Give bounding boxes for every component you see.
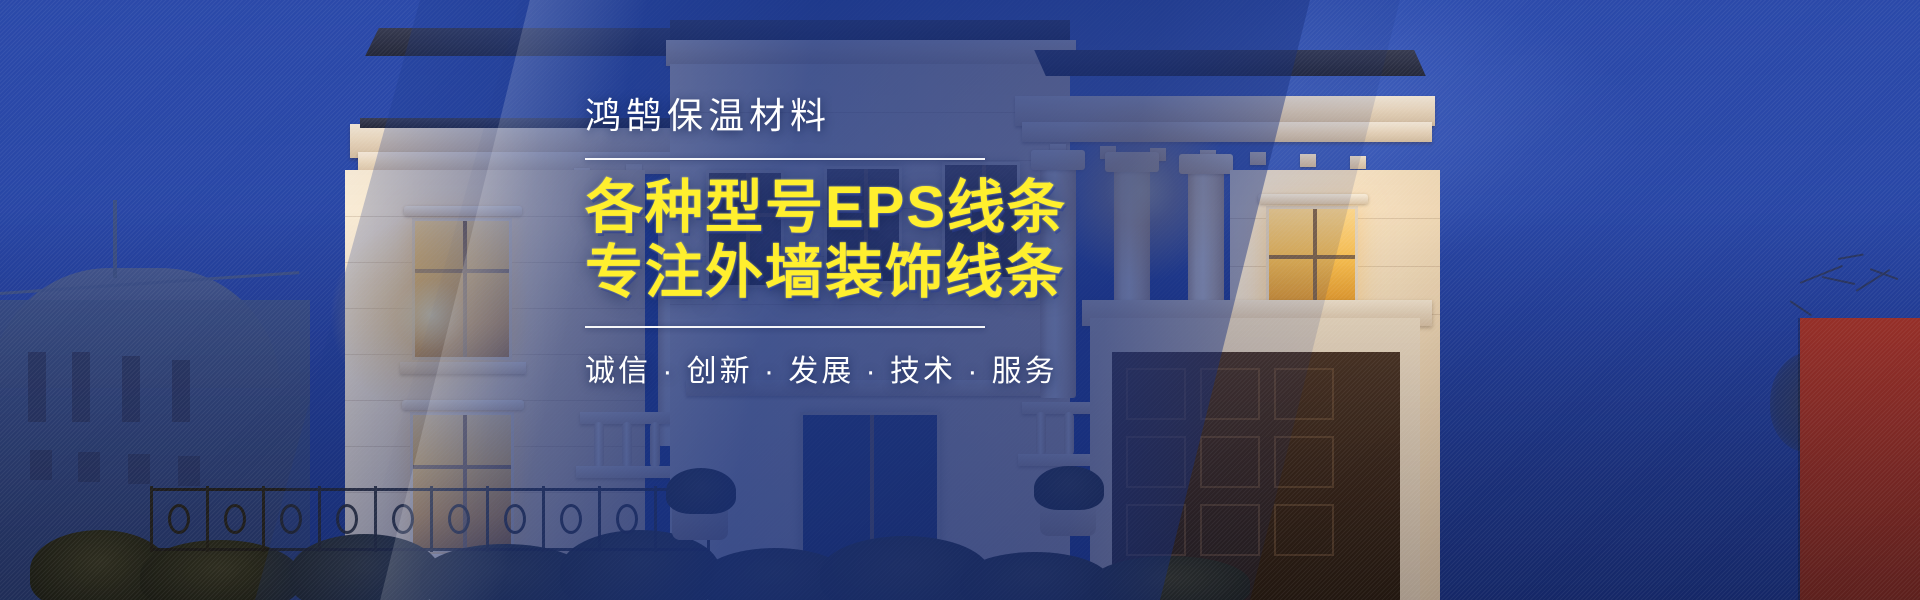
banner-text-block: 鸿鹄保温材料 各种型号EPS线条 专注外墙装饰线条 诚信 · 创新 · 发展 ·…: [585, 96, 1105, 390]
headline-line-1: 各种型号EPS线条: [585, 176, 1105, 241]
promo-banner: 鸿鹄保温材料 各种型号EPS线条 专注外墙装饰线条 诚信 · 创新 · 发展 ·…: [0, 0, 1920, 600]
headline-line-2: 专注外墙装饰线条: [585, 241, 1105, 306]
divider-top: [585, 158, 985, 160]
divider-bottom: [585, 326, 985, 328]
brand-name: 鸿鹄保温材料: [585, 96, 1105, 136]
tagline: 诚信 · 创新 · 发展 · 技术 · 服务: [585, 346, 1105, 390]
